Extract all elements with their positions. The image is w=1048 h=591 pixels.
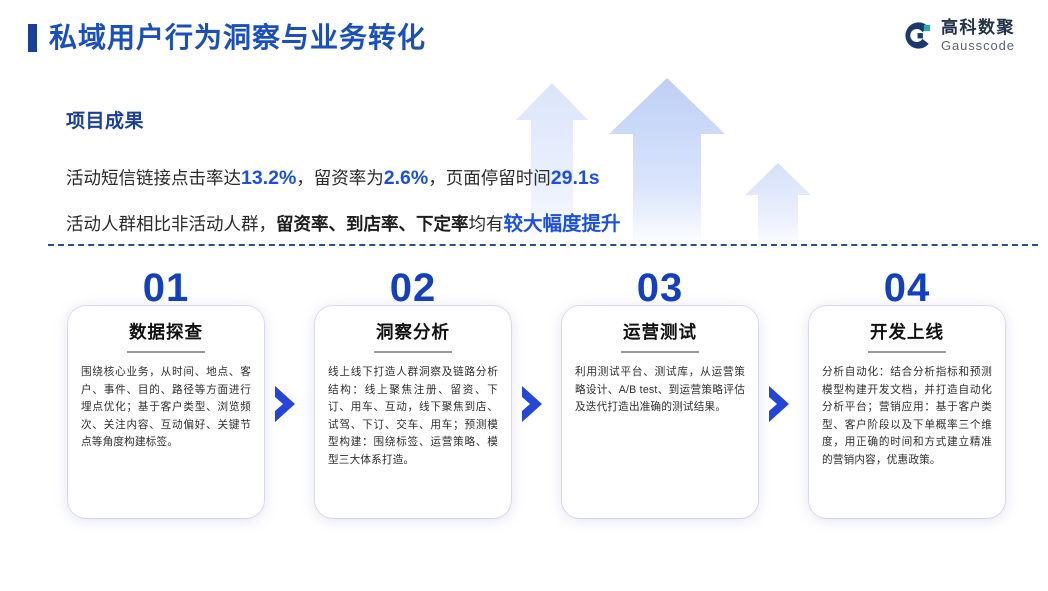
company-logo: 高科数聚 Gausscode <box>903 19 1015 52</box>
logo-text: 高科数聚 Gausscode <box>941 19 1015 52</box>
section-divider <box>48 244 1038 246</box>
process-steps: 01 数据探查 围绕核心业务，从时间、地点、客户、事件、目的、路径等方面进行埋点… <box>0 266 1048 528</box>
step-card-02[interactable]: 02 洞察分析 线上线下打造人群洞察及链路分析结构：线上聚焦注册、留资、下订、用… <box>315 266 511 522</box>
step-card-body[interactable]: 运营测试 利用测试平台、测试库，从运营策略设计、A/B test、到运营策略评估… <box>562 306 758 518</box>
step-card-body[interactable]: 洞察分析 线上线下打造人群洞察及链路分析结构：线上聚焦注册、留资、下订、用车、互… <box>315 306 511 518</box>
result-line-metrics: 活动短信链接点击率达13.2%，留资率为2.6%，页面停留时间29.1s <box>66 165 706 191</box>
result-seg-3: ，页面停留时间 <box>428 168 551 188</box>
step-number: 04 <box>809 266 1005 310</box>
step-title: 洞察分析 <box>328 320 498 344</box>
metric-click-rate: 13.2% <box>241 167 296 189</box>
result-seg-2: ，留资率为 <box>296 168 384 188</box>
step-card-03[interactable]: 03 运营测试 利用测试平台、测试库，从运营策略设计、A/B test、到运营策… <box>562 266 758 522</box>
project-results-block: 项目成果 活动短信链接点击率达13.2%，留资率为2.6%，页面停留时间29.1… <box>66 108 706 237</box>
step-title: 开发上线 <box>822 320 992 344</box>
step-title-rule <box>868 351 946 353</box>
slide-root: 私域用户行为洞察与业务转化 高科数聚 Gausscode <box>0 0 1048 591</box>
decor-arrow-right <box>745 163 811 248</box>
results-heading: 项目成果 <box>66 108 706 136</box>
step-card-body[interactable]: 开发上线 分析自动化：结合分析指标和预测模型构建开发文档，并打造自动化分析平台；… <box>809 306 1005 518</box>
step-description: 分析自动化：结合分析指标和预测模型构建开发文档，并打造自动化分析平台；营销应用：… <box>822 364 992 469</box>
comparison-seg-2: 均有 <box>469 214 504 234</box>
title-accent-bar <box>28 24 37 52</box>
page-title: 私域用户行为洞察与业务转化 <box>49 17 426 59</box>
step-title-rule <box>621 351 699 353</box>
logo-name-cn: 高科数聚 <box>941 19 1015 36</box>
chevron-right-icon-2 <box>519 384 545 424</box>
metric-lead-rate: 2.6% <box>384 167 428 189</box>
metric-dwell-time: 29.1s <box>551 167 600 189</box>
chevron-right-icon-1 <box>272 384 298 424</box>
comparison-metrics-bold: 留资率、到店率、下定率 <box>276 214 469 234</box>
logo-name-en: Gausscode <box>941 39 1015 52</box>
step-title-rule <box>127 351 205 353</box>
comparison-seg-1: 活动人群相比非活动人群， <box>66 214 276 234</box>
logo-mark-icon <box>903 20 934 51</box>
comparison-highlight: 较大幅度提升 <box>504 213 621 235</box>
step-description: 线上线下打造人群洞察及链路分析结构：线上聚焦注册、留资、下订、用车、互动，线下聚… <box>328 364 498 469</box>
chevron-right-icon-3 <box>766 384 792 424</box>
step-number: 02 <box>315 266 511 310</box>
step-title: 运营测试 <box>575 320 745 344</box>
step-description: 围绕核心业务，从时间、地点、客户、事件、目的、路径等方面进行埋点优化；基于客户类… <box>81 364 251 452</box>
result-seg-1: 活动短信链接点击率达 <box>66 168 241 188</box>
step-number: 01 <box>68 266 264 310</box>
step-title: 数据探查 <box>81 320 251 344</box>
step-number: 03 <box>562 266 758 310</box>
step-card-01[interactable]: 01 数据探查 围绕核心业务，从时间、地点、客户、事件、目的、路径等方面进行埋点… <box>68 266 264 522</box>
step-card-body[interactable]: 数据探查 围绕核心业务，从时间、地点、客户、事件、目的、路径等方面进行埋点优化；… <box>68 306 264 518</box>
slide-header: 私域用户行为洞察与业务转化 高科数聚 Gausscode <box>0 0 1048 78</box>
step-card-04[interactable]: 04 开发上线 分析自动化：结合分析指标和预测模型构建开发文档，并打造自动化分析… <box>809 266 1005 522</box>
step-description: 利用测试平台、测试库，从运营策略设计、A/B test、到运营策略评估及迭代打造… <box>575 364 745 417</box>
result-line-comparison: 活动人群相比非活动人群，留资率、到店率、下定率均有较大幅度提升 <box>66 211 706 237</box>
step-title-rule <box>374 351 452 353</box>
